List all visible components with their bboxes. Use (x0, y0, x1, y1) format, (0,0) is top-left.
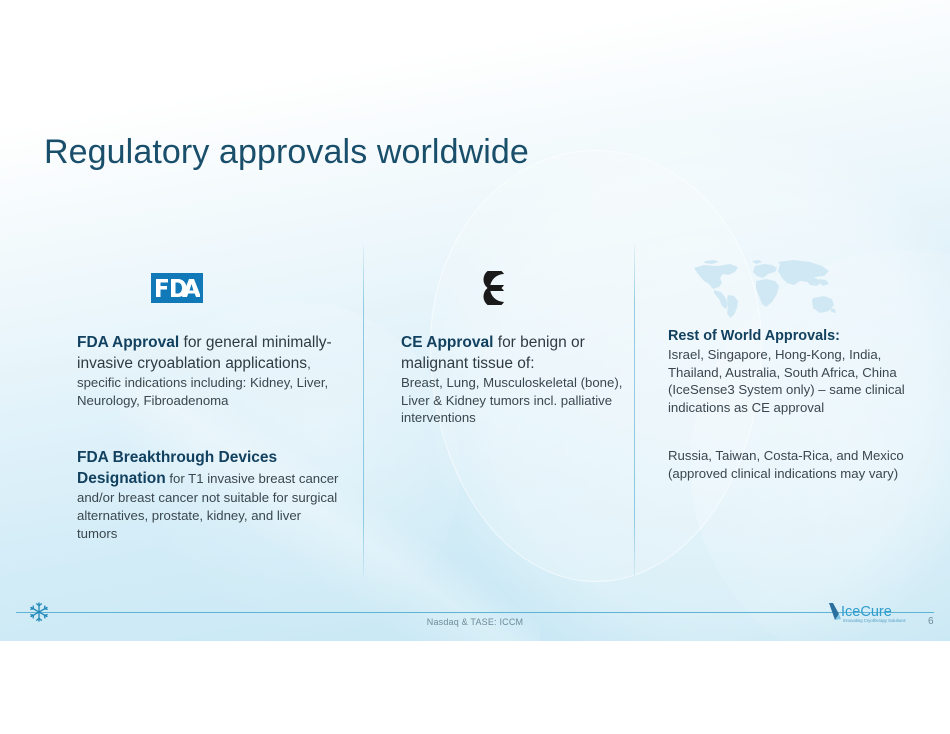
ce-logo-row (401, 255, 626, 320)
page-title: Regulatory approvals worldwide (44, 133, 529, 172)
ce-approval-detail: Breast, Lung, Musculoskeletal (bone), Li… (401, 374, 623, 427)
fda-logo-icon (151, 273, 203, 303)
row-approvals-body: Israel, Singapore, Hong-Kong, India, Tha… (668, 346, 916, 416)
row-additional-body: Russia, Taiwan, Costa-Rica, and Mexico (… (668, 447, 916, 482)
column-ce: CE Approval for benign or malignant tiss… (401, 255, 626, 320)
column-rest-of-world: Rest of World Approvals: Israel, Singapo… (668, 255, 920, 320)
row-approvals-heading: Rest of World Approvals: (668, 327, 916, 346)
row-additional-block: Russia, Taiwan, Costa-Rica, and Mexico (… (668, 447, 916, 482)
page-number: 6 (928, 616, 934, 627)
row-approvals-block: Rest of World Approvals: Israel, Singapo… (668, 327, 916, 416)
fda-approval-block: FDA Approval for general minimally-invas… (77, 332, 343, 410)
world-map-row (668, 255, 920, 320)
fda-approval-bold: FDA Approval (77, 334, 179, 351)
world-map-icon (685, 257, 845, 319)
ce-mark-icon (451, 271, 507, 305)
column-divider-2 (634, 245, 635, 577)
fda-logo-row (77, 255, 352, 320)
fda-approval-text: FDA Approval for general minimally-invas… (77, 334, 332, 372)
icecure-tagline: Innovating Cryotherapy Solutions (843, 618, 906, 623)
ce-approval-lead: CE Approval for benign or malignant tiss… (401, 332, 623, 374)
row-approvals-heading-text: Rest of World Approvals (668, 328, 835, 344)
fda-breakthrough-block: FDA Breakthrough Devices Designation for… (77, 447, 345, 543)
column-divider-1 (363, 245, 364, 577)
ce-approval-block: CE Approval for benign or malignant tiss… (401, 332, 623, 427)
row-approvals-heading-colon: : (835, 328, 840, 344)
footer-ticker: Nasdaq & TASE: ICCM (0, 617, 950, 627)
slide-canvas: Regulatory approvals worldwide FDA Appro… (0, 0, 950, 641)
ce-approval-bold: CE Approval (401, 334, 493, 351)
column-fda: FDA Approval for general minimally-invas… (77, 255, 352, 320)
footer-rule (16, 612, 934, 613)
icecure-logo: IceCure Innovating Cryotherapy Solutions (826, 597, 918, 629)
